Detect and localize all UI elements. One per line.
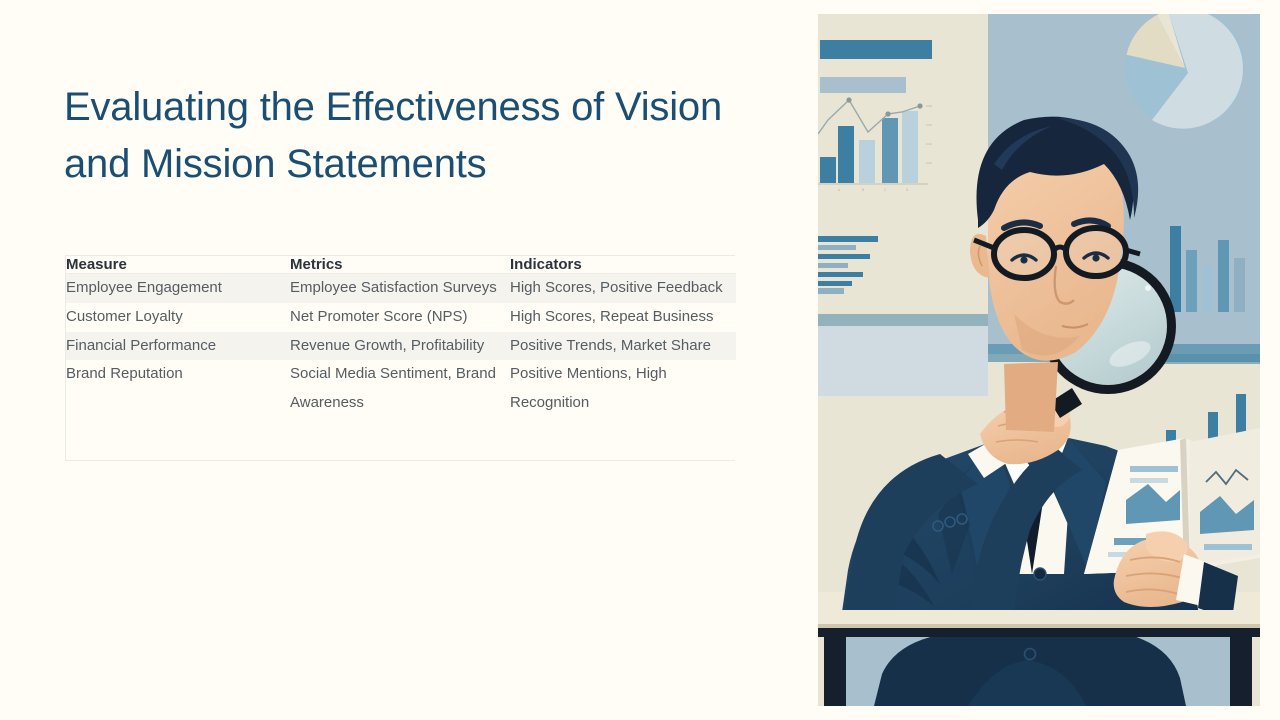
table-row: Employee Engagement Employee Satisfactio…: [66, 274, 736, 303]
column-header-measure: Measure: [66, 256, 290, 274]
businessman-analyzing-reports-illustration: 0.080.06 0.040.02 AB CD: [818, 14, 1260, 706]
cell-metrics: Social Media Sentiment, Brand Awareness: [290, 360, 510, 460]
cell-metrics: Employee Satisfaction Surveys: [290, 274, 510, 303]
table-row: Customer Loyalty Net Promoter Score (NPS…: [66, 303, 736, 332]
cell-measure: Employee Engagement: [66, 274, 290, 303]
slide-root: Evaluating the Effectiveness of Vision a…: [0, 0, 1280, 720]
metrics-table: Measure Metrics Indicators Employee Enga…: [66, 256, 736, 460]
cell-indicators: Positive Trends, Market Share: [510, 332, 736, 361]
svg-text:0.08: 0.08: [926, 104, 932, 108]
cell-indicators: High Scores, Positive Feedback: [510, 274, 736, 303]
svg-text:0.02: 0.02: [926, 161, 932, 165]
cell-indicators: High Scores, Repeat Business: [510, 303, 736, 332]
table-header: Measure Metrics Indicators: [66, 256, 736, 274]
svg-text:0.04: 0.04: [926, 142, 932, 146]
svg-text:0.06: 0.06: [926, 123, 932, 127]
left-content-pane: Evaluating the Effectiveness of Vision a…: [0, 0, 803, 720]
svg-text:B: B: [862, 188, 864, 192]
column-header-indicators: Indicators: [510, 256, 736, 274]
cell-measure: Brand Reputation: [66, 360, 290, 460]
column-header-metrics: Metrics: [290, 256, 510, 274]
table-row: Financial Performance Revenue Growth, Pr…: [66, 332, 736, 361]
cell-metrics: Net Promoter Score (NPS): [290, 303, 510, 332]
metrics-table-container: Measure Metrics Indicators Employee Enga…: [65, 255, 735, 461]
table-body: Employee Engagement Employee Satisfactio…: [66, 274, 736, 460]
page-title: Evaluating the Effectiveness of Vision a…: [64, 79, 724, 194]
table-row: Brand Reputation Social Media Sentiment,…: [66, 360, 736, 460]
table-header-row: Measure Metrics Indicators: [66, 256, 736, 274]
cell-metrics: Revenue Growth, Profitability: [290, 332, 510, 361]
cell-indicators: Positive Mentions, High Recognition: [510, 360, 736, 460]
cell-measure: Customer Loyalty: [66, 303, 290, 332]
cell-measure: Financial Performance: [66, 332, 290, 361]
